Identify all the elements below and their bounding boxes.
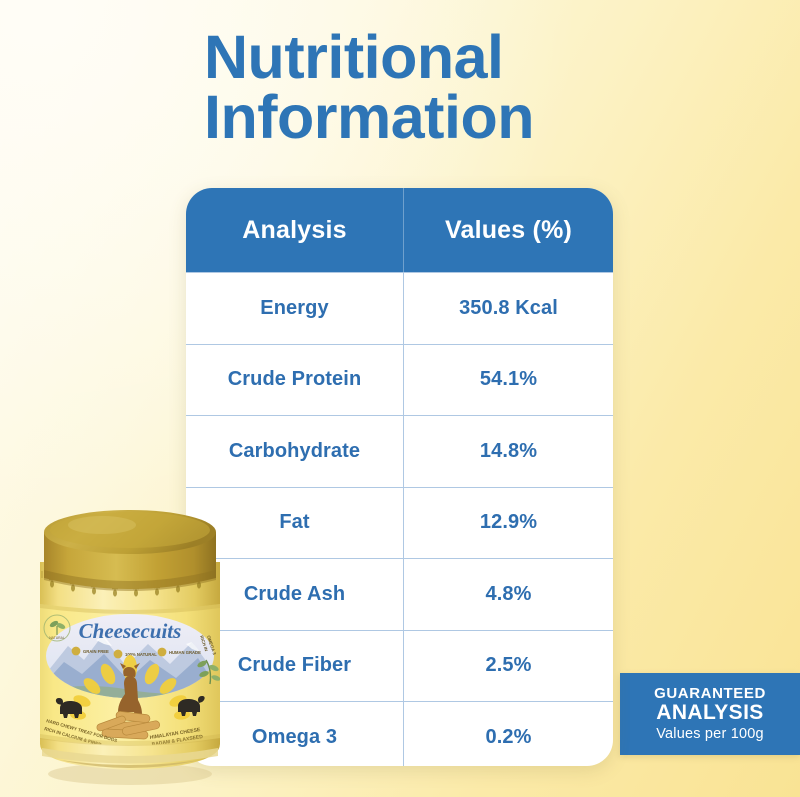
table-row: Crude Fiber 2.5%: [186, 630, 613, 702]
page-title: Nutritional Information: [204, 28, 674, 148]
jar-lid-highlight: [68, 516, 136, 534]
table-row: Carbohydrate 14.8%: [186, 415, 613, 487]
cell-value: 0.2%: [404, 702, 613, 766]
jar-label: Cheesecuits GRAIN FREE 100% NATURAL HUMA…: [30, 598, 230, 758]
column-header-analysis: Analysis: [186, 188, 404, 272]
cell-value: 12.9%: [404, 488, 613, 559]
badge-line-analysis: ANALYSIS: [656, 702, 763, 724]
svg-text:GRAIN FREE: GRAIN FREE: [83, 649, 109, 654]
jar-brand-text: Cheesecuits: [79, 619, 182, 643]
table-row: Energy 350.8 Kcal: [186, 272, 613, 344]
cell-analysis: Crude Protein: [186, 345, 404, 416]
infographic-canvas: Nutritional Information Analysis Values …: [0, 0, 800, 797]
nutrition-table-card: Analysis Values (%) Energy 350.8 Kcal Cr…: [186, 188, 613, 766]
product-jar-image: Cheesecuits GRAIN FREE 100% NATURAL HUMA…: [30, 508, 230, 786]
cell-analysis: Energy: [186, 273, 404, 344]
cell-value: 14.8%: [404, 416, 613, 487]
column-header-values: Values (%): [404, 188, 613, 272]
table-row: Crude Protein 54.1%: [186, 344, 613, 416]
badge-line-values-per-100g: Values per 100g: [656, 726, 764, 742]
table-row: Omega 3 0.2%: [186, 701, 613, 766]
cell-value: 2.5%: [404, 631, 613, 702]
svg-text:HUMAN GRADE: HUMAN GRADE: [169, 650, 201, 655]
table-row: Crude Ash 4.8%: [186, 558, 613, 630]
cell-value: 350.8 Kcal: [404, 273, 613, 344]
badge-line-guaranteed: GUARANTEED: [654, 686, 766, 703]
svg-text:NATURAL: NATURAL: [49, 636, 65, 640]
cell-value: 4.8%: [404, 559, 613, 630]
table-header-row: Analysis Values (%): [186, 188, 613, 272]
cell-analysis: Carbohydrate: [186, 416, 404, 487]
cell-value: 54.1%: [404, 345, 613, 416]
table-row: Fat 12.9%: [186, 487, 613, 559]
guaranteed-analysis-badge: GUARANTEED ANALYSIS Values per 100g: [620, 673, 800, 755]
product-jar-svg: Cheesecuits GRAIN FREE 100% NATURAL HUMA…: [30, 508, 230, 786]
